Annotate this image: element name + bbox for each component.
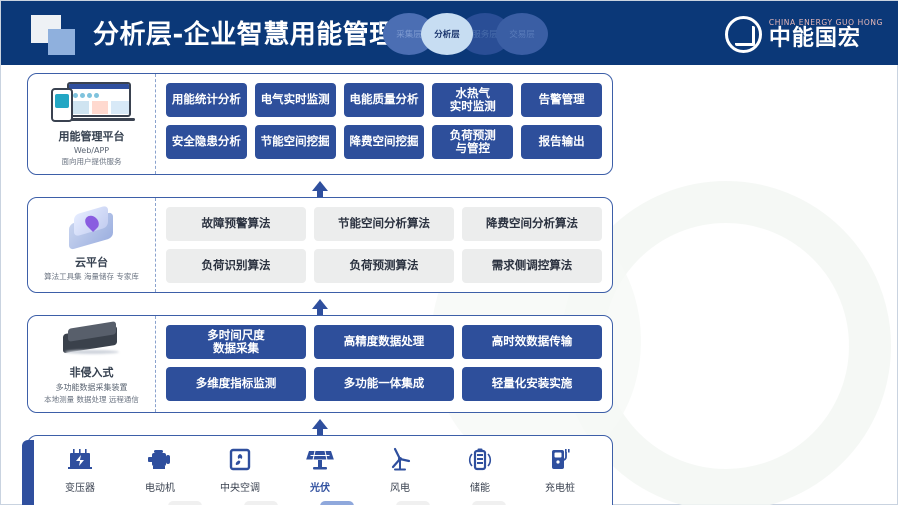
section-cloud-items: 故障预警算法 节能空间分析算法 降费空间分析算法 负荷识别算法 负荷预测算法 需… — [156, 198, 612, 292]
brand-chinese: 中能国宏 — [769, 27, 883, 50]
section-platform-subtitle: Web/APP — [74, 146, 109, 155]
equipment-central-ac[interactable]: 中央空调 — [203, 445, 277, 494]
device-row-2: 多维度指标监测 多功能一体集成 轻量化安装实施 — [166, 367, 602, 401]
platform-row-2: 安全隐患分析 节能空间挖掘 降费空间挖掘 负荷预测 与管控 报告输出 — [166, 125, 602, 159]
equipment-solar[interactable]: 光伏 — [283, 445, 357, 494]
stage-indicator: 采集层 服务层 交易层 分析层 — [383, 13, 543, 55]
equipment-charging-pile[interactable]: 充电桩 — [523, 445, 597, 494]
equipment-storage[interactable]: 储能 — [443, 445, 517, 494]
pill-water-heat-gas-monitor[interactable]: 水热气 实时监测 — [432, 83, 513, 117]
pill-report-output[interactable]: 报告输出 — [521, 125, 602, 159]
pill-lightweight-installation[interactable]: 轻量化安装实施 — [462, 367, 602, 401]
section-device-subtitle: 多功能数据采集装置 — [56, 382, 128, 393]
brand-text: CHINA ENERGY GUO HONG 中能国宏 — [769, 18, 883, 50]
pill-energy-saving-analysis-algorithm[interactable]: 节能空间分析算法 — [314, 207, 454, 241]
equipment-label: 风电 — [390, 479, 410, 494]
pill-usage-statistics[interactable]: 用能统计分析 — [166, 83, 247, 117]
charging-pile-icon — [546, 445, 574, 475]
flow-arrow-1 — [27, 175, 613, 197]
transformer-icon — [66, 445, 94, 475]
brand-emblem-icon — [725, 16, 762, 53]
energy-media-row: 热 冷 电 水 — [40, 501, 600, 505]
section-device: 非侵入式 多功能数据采集装置 本地测量 数据处理 远程通信 多时间尺度 数据采集… — [27, 315, 613, 413]
section-platform-subtitle2: 面向用户提供服务 — [62, 156, 122, 167]
pill-energy-saving-space[interactable]: 节能空间挖掘 — [255, 125, 336, 159]
media-cold[interactable]: 冷 — [244, 501, 278, 505]
equipment-transformer[interactable]: 变压器 — [43, 445, 117, 494]
arrow-up-icon — [312, 299, 328, 309]
stage-item-analysis[interactable]: 分析层 — [421, 13, 473, 55]
arrow-up-icon — [312, 181, 328, 191]
pill-power-quality-analysis[interactable]: 电能质量分析 — [344, 83, 425, 117]
pill-fault-warning-algorithm[interactable]: 故障预警算法 — [166, 207, 306, 241]
equipment-label: 电动机 — [145, 479, 175, 494]
pill-demand-side-control-algorithm[interactable]: 需求侧调控算法 — [462, 249, 602, 283]
page-header: 分析层-企业智慧用能管理平台 采集层 服务层 交易层 分析层 CHINA ENE… — [1, 1, 898, 65]
brand-logo: CHINA ENERGY GUO HONG 中能国宏 — [725, 14, 883, 54]
section-cloud-identity: 云平台 算法工具集 海量储存 专家库 — [28, 198, 156, 292]
section-platform-title: 用能管理平台 — [59, 128, 125, 144]
motor-icon — [146, 445, 174, 475]
section-platform-identity: 用能管理平台 Web/APP 面向用户提供服务 — [28, 74, 156, 174]
battery-storage-icon — [466, 445, 494, 475]
data-acquisition-device-icon — [59, 322, 125, 360]
pill-safety-hazard-analysis[interactable]: 安全隐患分析 — [166, 125, 247, 159]
wind-turbine-icon — [386, 445, 414, 475]
pill-electric-realtime-monitor[interactable]: 电气实时监测 — [255, 83, 336, 117]
flow-arrow-2 — [27, 293, 613, 315]
media-water[interactable]: 水 — [396, 501, 430, 505]
equipment-row: 变压器 电动机 中央空调 — [40, 445, 600, 494]
section-platform-items: 用能统计分析 电气实时监测 电能质量分析 水热气 实时监测 告警管理 安全隐患分… — [156, 74, 612, 174]
pill-alarm-management[interactable]: 告警管理 — [521, 83, 602, 117]
pill-multifunction-integration[interactable]: 多功能一体集成 — [314, 367, 454, 401]
cloud-cube-icon — [63, 208, 121, 250]
pill-load-forecast-algorithm[interactable]: 负荷预测算法 — [314, 249, 454, 283]
pill-cost-reduction-space[interactable]: 降费空间挖掘 — [344, 125, 425, 159]
flow-arrow-3 — [27, 413, 613, 435]
section-device-title: 非侵入式 — [70, 364, 114, 380]
solar-panel-icon — [305, 445, 335, 475]
section-cloud: 云平台 算法工具集 海量储存 专家库 故障预警算法 节能空间分析算法 降费空间分… — [27, 197, 613, 293]
equipment-wind[interactable]: 风电 — [363, 445, 437, 494]
pill-load-forecast-control[interactable]: 负荷预测 与管控 — [432, 125, 513, 159]
architecture-column: 用能管理平台 Web/APP 面向用户提供服务 用能统计分析 电气实时监测 电能… — [27, 73, 613, 505]
section-device-items: 多时间尺度 数据采集 高精度数据处理 高时效数据传输 多维度指标监测 多功能一体… — [156, 316, 612, 412]
pill-multi-timescale-acquisition[interactable]: 多时间尺度 数据采集 — [166, 325, 306, 359]
section-device-subtitle2: 本地测量 数据处理 远程通信 — [44, 394, 139, 405]
media-gas[interactable]: 气 — [472, 501, 506, 505]
section-platform: 用能管理平台 Web/APP 面向用户提供服务 用能统计分析 电气实时监测 电能… — [27, 73, 613, 175]
media-heat[interactable]: 热 — [168, 501, 202, 505]
pill-high-speed-transmission[interactable]: 高时效数据传输 — [462, 325, 602, 359]
platform-row-1: 用能统计分析 电气实时监测 电能质量分析 水热气 实时监测 告警管理 — [166, 83, 602, 117]
slide-root: 分析层-企业智慧用能管理平台 采集层 服务层 交易层 分析层 CHINA ENE… — [0, 0, 898, 505]
equipment-label: 中央空调 — [220, 479, 260, 494]
arrow-up-icon — [312, 419, 328, 429]
device-row-1: 多时间尺度 数据采集 高精度数据处理 高时效数据传输 — [166, 325, 602, 359]
equipment-label: 变压器 — [65, 479, 95, 494]
laptop-phone-icon — [51, 80, 133, 124]
media-electricity[interactable]: 电 — [320, 501, 354, 505]
section-cloud-title: 云平台 — [75, 254, 108, 270]
stage-item-trading[interactable]: 交易层 — [496, 13, 548, 55]
section-device-identity: 非侵入式 多功能数据采集装置 本地测量 数据处理 远程通信 — [28, 316, 156, 412]
pill-high-precision-processing[interactable]: 高精度数据处理 — [314, 325, 454, 359]
pill-multi-dimension-monitoring[interactable]: 多维度指标监测 — [166, 367, 306, 401]
pill-load-identification-algorithm[interactable]: 负荷识别算法 — [166, 249, 306, 283]
squares-logo-icon — [31, 15, 83, 55]
section-cloud-subtitle: 算法工具集 海量储存 专家库 — [44, 271, 139, 282]
equipment-label: 光伏 — [310, 479, 330, 494]
logo-square-blue — [48, 29, 75, 55]
equipment-label: 储能 — [470, 479, 490, 494]
equipment-label: 充电桩 — [545, 479, 575, 494]
section-equipment: 变压器 电动机 中央空调 — [27, 435, 613, 505]
cloud-row-2: 负荷识别算法 负荷预测算法 需求侧调控算法 — [166, 249, 602, 283]
equipment-motor[interactable]: 电动机 — [123, 445, 197, 494]
central-ac-icon — [226, 445, 254, 475]
pill-cost-reduction-analysis-algorithm[interactable]: 降费空间分析算法 — [462, 207, 602, 241]
panel-accent-bar — [22, 440, 34, 505]
cloud-row-1: 故障预警算法 节能空间分析算法 降费空间分析算法 — [166, 207, 602, 241]
